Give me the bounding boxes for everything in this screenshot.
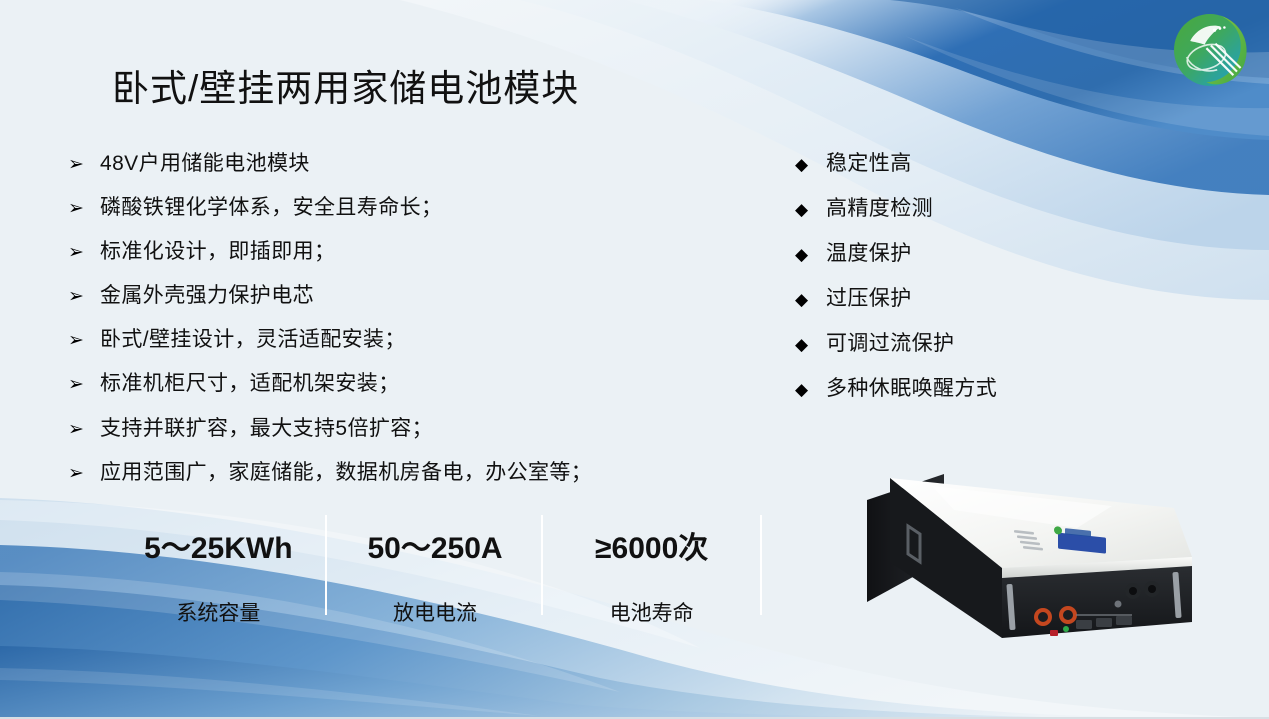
diamond-bullet-icon: ◆ bbox=[795, 377, 826, 398]
spec-cell-battery-life: ≥6000次 电池寿命 bbox=[543, 515, 760, 625]
list-item-label: 标准机柜尺寸，适配机架安装； bbox=[100, 372, 400, 395]
list-item: ➢ 48V户用储能电池模块 bbox=[68, 152, 718, 175]
diamond-bullet-icon: ◆ bbox=[795, 287, 826, 308]
list-item-label: 标准化设计，即插即用； bbox=[100, 240, 335, 263]
list-item: ➢ 标准化设计，即插即用； bbox=[68, 240, 718, 263]
arrow-bullet-icon: ➢ bbox=[68, 240, 100, 262]
list-item-label: 稳定性高 bbox=[826, 152, 912, 175]
list-item-label: 磷酸铁锂化学体系，安全且寿命长； bbox=[100, 196, 442, 219]
list-item-label: 过压保护 bbox=[826, 287, 912, 310]
diamond-bullet-icon: ◆ bbox=[795, 332, 826, 353]
arrow-bullet-icon: ➢ bbox=[68, 372, 100, 394]
spec-value: 5～25KWh bbox=[144, 523, 292, 567]
diamond-bullet-icon: ◆ bbox=[795, 242, 826, 263]
spec-divider bbox=[760, 515, 762, 615]
list-item-label: 高精度检测 bbox=[826, 197, 933, 220]
list-item-label: 支持并联扩容，最大支持5倍扩容； bbox=[100, 417, 433, 440]
list-item: ◆ 过压保护 bbox=[795, 287, 1095, 310]
key-specs-row: 5～25KWh 系统容量 50～250A 放电电流 ≥6000次 电池寿命 bbox=[110, 515, 760, 625]
diamond-bullet-icon: ◆ bbox=[795, 152, 826, 173]
list-item: ◆ 高精度检测 bbox=[795, 197, 1095, 220]
arrow-bullet-icon: ➢ bbox=[68, 417, 100, 439]
spec-value: ≥6000次 bbox=[595, 523, 708, 567]
product-photo bbox=[862, 452, 1222, 652]
left-feature-list: ➢ 48V户用储能电池模块 ➢ 磷酸铁锂化学体系，安全且寿命长； ➢ 标准化设计… bbox=[68, 152, 718, 505]
list-item: ◆ 温度保护 bbox=[795, 242, 1095, 265]
list-item: ➢ 卧式/壁挂设计，灵活适配安装； bbox=[68, 328, 718, 351]
arrow-bullet-icon: ➢ bbox=[68, 196, 100, 218]
list-item-label: 卧式/壁挂设计，灵活适配安装； bbox=[100, 328, 406, 351]
right-feature-list: ◆ 稳定性高 ◆ 高精度检测 ◆ 温度保护 ◆ 过压保护 ◆ 可调过流保护 ◆ … bbox=[795, 152, 1095, 423]
spec-cell-system-capacity: 5～25KWh 系统容量 bbox=[110, 515, 327, 625]
diamond-bullet-icon: ◆ bbox=[795, 197, 826, 218]
presentation-slide: 卧式/壁挂两用家储电池模块 ➢ 48V户用储能电池模块 ➢ 磷酸铁锂化学体系，安… bbox=[0, 0, 1269, 719]
arrow-bullet-icon: ➢ bbox=[68, 152, 100, 174]
list-item-label: 温度保护 bbox=[826, 242, 912, 265]
list-item: ➢ 标准机柜尺寸，适配机架安装； bbox=[68, 372, 718, 395]
list-item-label: 可调过流保护 bbox=[826, 332, 954, 355]
spec-value: 50～250A bbox=[367, 523, 502, 567]
list-item-label: 应用范围广，家庭储能，数据机房备电，办公室等； bbox=[100, 461, 592, 484]
arrow-bullet-icon: ➢ bbox=[68, 461, 100, 483]
list-item-label: 多种休眠唤醒方式 bbox=[826, 377, 997, 400]
slide-title: 卧式/壁挂两用家储电池模块 bbox=[112, 58, 579, 112]
list-item: ◆ 稳定性高 bbox=[795, 152, 1095, 175]
list-item: ➢ 应用范围广，家庭储能，数据机房备电，办公室等； bbox=[68, 461, 718, 484]
arrow-bullet-icon: ➢ bbox=[68, 284, 100, 306]
list-item: ➢ 金属外壳强力保护电芯 bbox=[68, 284, 718, 307]
list-item-label: 金属外壳强力保护电芯 bbox=[100, 284, 314, 307]
list-item: ➢ 支持并联扩容，最大支持5倍扩容； bbox=[68, 417, 718, 440]
list-item: ◆ 多种休眠唤醒方式 bbox=[795, 377, 1095, 400]
spec-label: 系统容量 bbox=[176, 597, 260, 627]
spec-label: 放电电流 bbox=[393, 597, 477, 627]
list-item: ◆ 可调过流保护 bbox=[795, 332, 1095, 355]
spec-cell-discharge-current: 50～250A 放电电流 bbox=[327, 515, 544, 625]
list-item: ➢ 磷酸铁锂化学体系，安全且寿命长； bbox=[68, 196, 718, 219]
company-logo-icon bbox=[1165, 5, 1255, 95]
spec-label: 电池寿命 bbox=[610, 597, 694, 627]
arrow-bullet-icon: ➢ bbox=[68, 328, 100, 350]
list-item-label: 48V户用储能电池模块 bbox=[100, 152, 310, 175]
